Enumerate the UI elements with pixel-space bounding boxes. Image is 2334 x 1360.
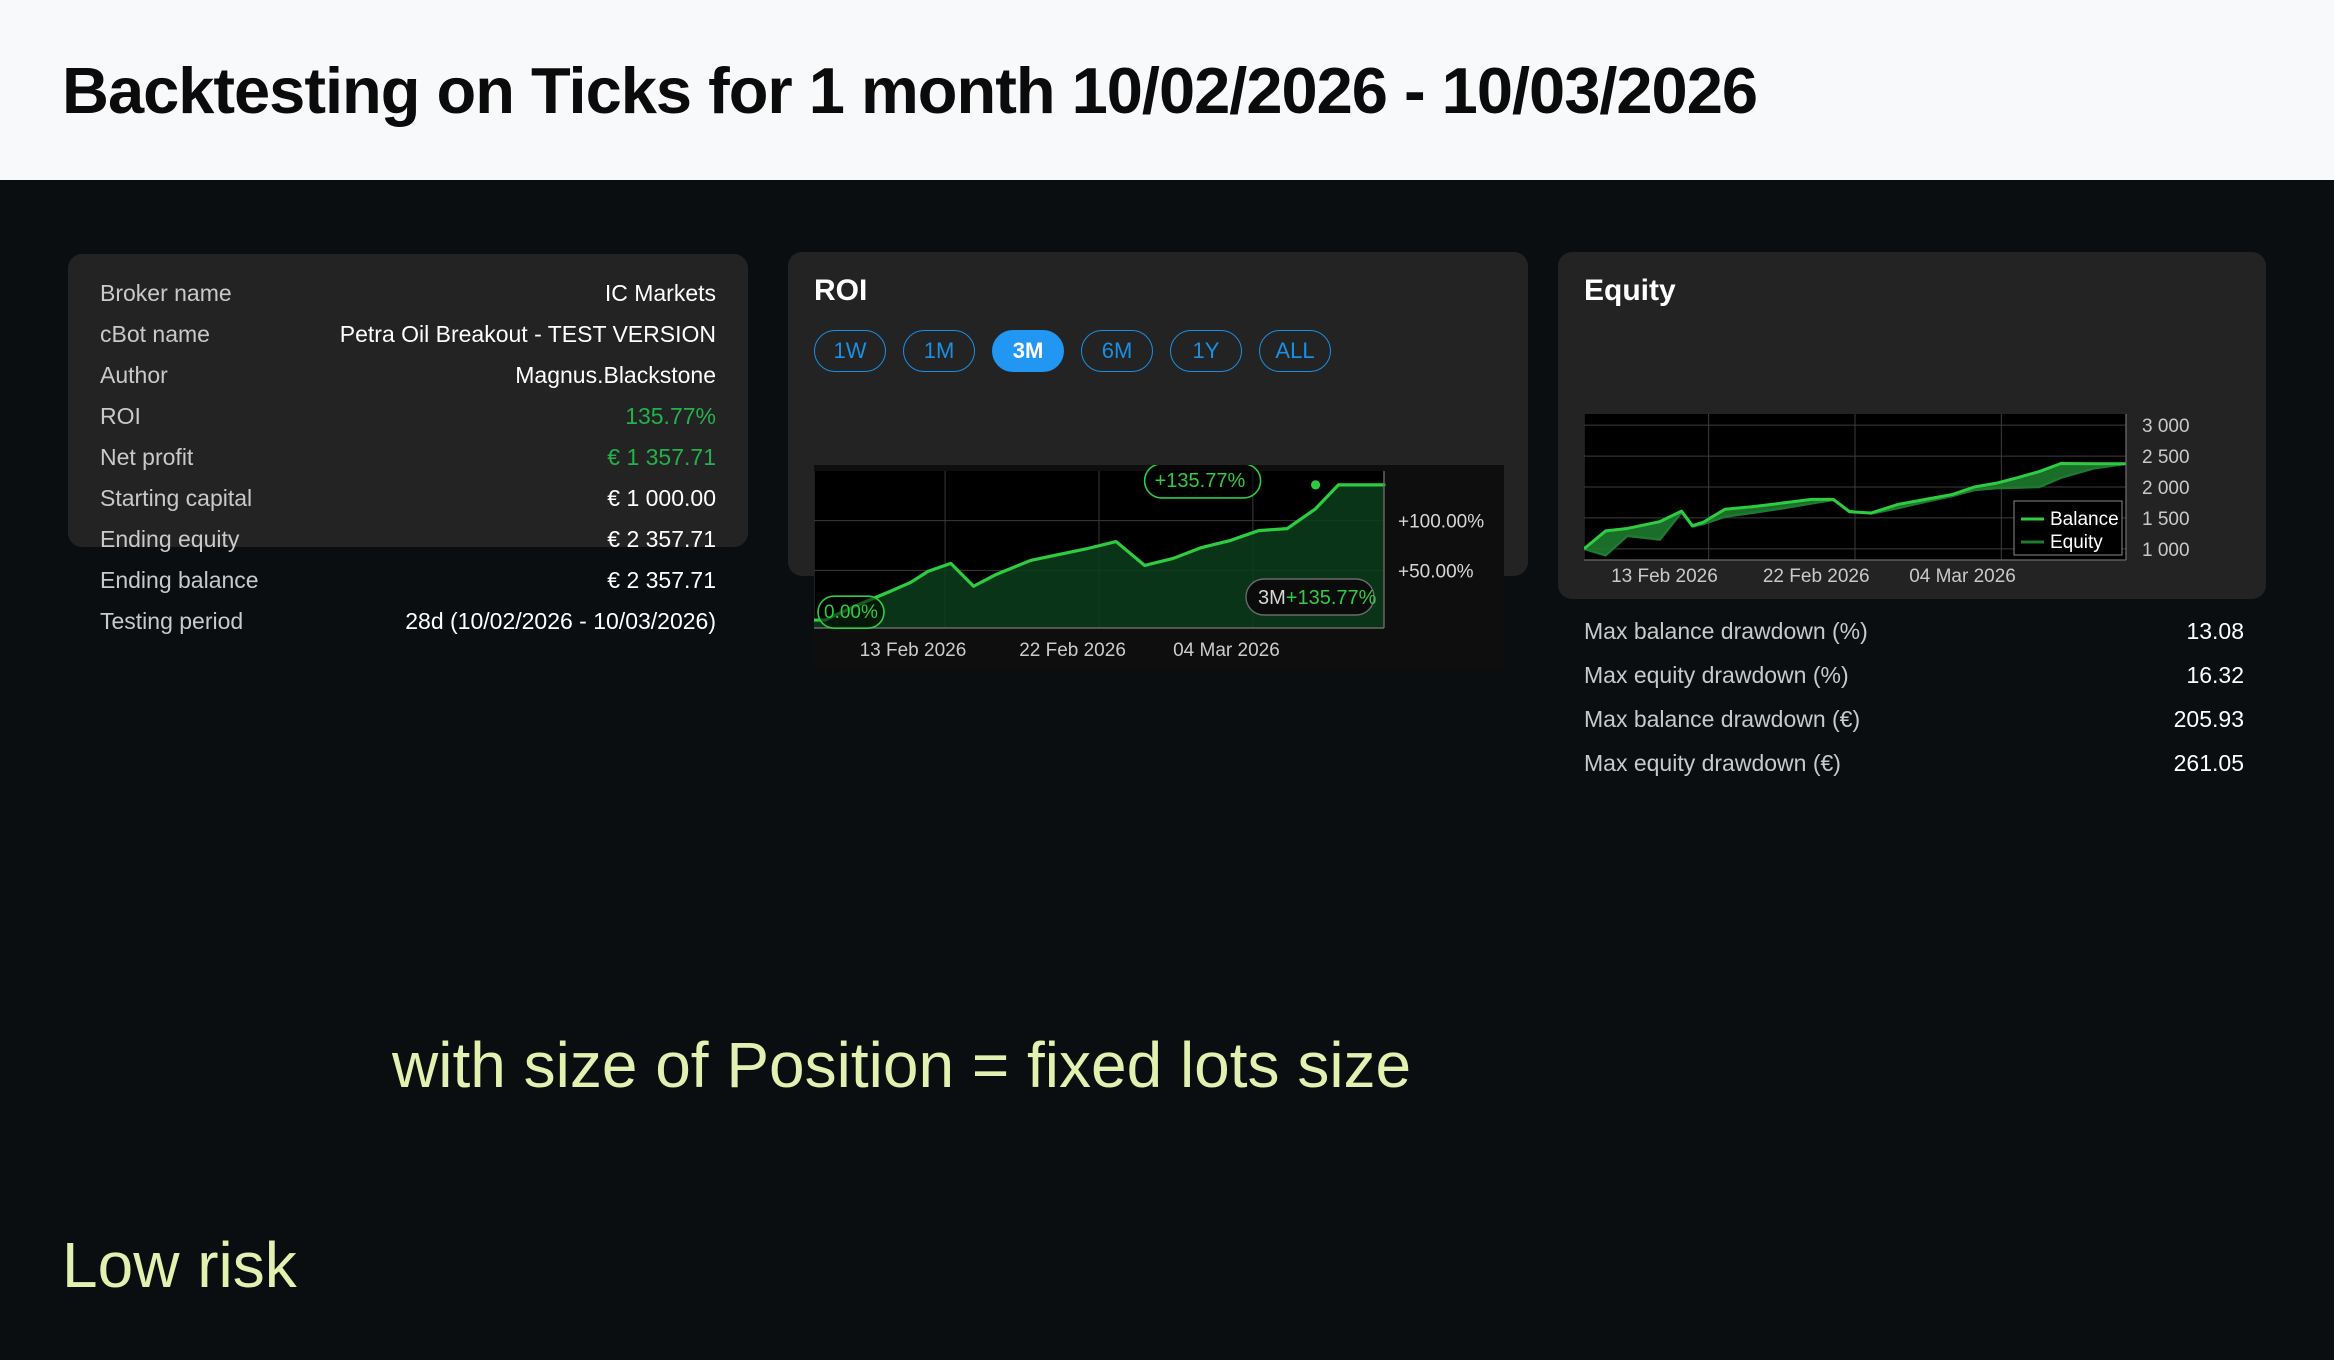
info-row-value: € 1 357.71: [607, 444, 716, 471]
info-row-value: € 1 000.00: [607, 485, 716, 512]
info-row-label: Ending equity: [100, 526, 239, 553]
drawdown-stats-list: Max balance drawdown (%)13.08Max equity …: [1584, 618, 2244, 794]
svg-text:13 Feb 2026: 13 Feb 2026: [1611, 566, 1718, 587]
roi-card-title: ROI: [814, 274, 1502, 308]
info-row-label: Net profit: [100, 444, 193, 471]
info-row-value: IC Markets: [605, 280, 716, 307]
svg-text:3M+135.77%: 3M+135.77%: [1258, 587, 1377, 609]
info-row: Testing period28d (10/02/2026 - 10/03/20…: [100, 608, 716, 649]
drawdown-stat-value: 16.32: [2186, 662, 2244, 689]
svg-text:Balance: Balance: [2050, 509, 2119, 530]
info-row: ROI135.77%: [100, 403, 716, 444]
svg-text:Equity: Equity: [2050, 532, 2103, 553]
svg-text:04 Mar 2026: 04 Mar 2026: [1173, 640, 1280, 661]
info-row-value: 135.77%: [625, 403, 716, 430]
svg-text:13 Feb 2026: 13 Feb 2026: [860, 640, 967, 661]
drawdown-stat-label: Max equity drawdown (%): [1584, 662, 1849, 689]
roi-range-button-3m[interactable]: 3M: [992, 330, 1064, 372]
info-row: Starting capital€ 1 000.00: [100, 485, 716, 526]
page-header: Backtesting on Ticks for 1 month 10/02/2…: [0, 0, 2334, 180]
svg-text:1 000: 1 000: [2142, 540, 2190, 561]
info-row: Broker nameIC Markets: [100, 280, 716, 321]
svg-text:2 000: 2 000: [2142, 478, 2190, 499]
info-row-label: Starting capital: [100, 485, 252, 512]
roi-range-button-1w[interactable]: 1W: [814, 330, 886, 372]
svg-text:22 Feb 2026: 22 Feb 2026: [1763, 566, 1870, 587]
cards-row: Broker nameIC MarketscBot namePetra Oil …: [0, 180, 2334, 900]
drawdown-stat-label: Max equity drawdown (€): [1584, 750, 1841, 777]
info-row-list: Broker nameIC MarketscBot namePetra Oil …: [100, 280, 716, 649]
roi-range-button-6m[interactable]: 6M: [1081, 330, 1153, 372]
drawdown-stat-label: Max balance drawdown (%): [1584, 618, 1868, 645]
info-row-value: Petra Oil Breakout - TEST VERSION: [340, 321, 716, 348]
info-row-value: Magnus.Blackstone: [515, 362, 716, 389]
svg-text:+50.00%: +50.00%: [1398, 561, 1474, 582]
drawdown-stat-value: 13.08: [2186, 618, 2244, 645]
drawdown-stat-value: 261.05: [2174, 750, 2244, 777]
drawdown-stat-row: Max equity drawdown (%)16.32: [1584, 662, 2244, 706]
page-title: Backtesting on Ticks for 1 month 10/02/2…: [62, 53, 1757, 128]
roi-range-button-1y[interactable]: 1Y: [1170, 330, 1242, 372]
caption-risk-level: Low risk: [62, 1228, 297, 1302]
svg-text:2 500: 2 500: [2142, 447, 2190, 468]
info-row-label: Ending balance: [100, 567, 259, 594]
backtest-info-card: Broker nameIC MarketscBot namePetra Oil …: [68, 254, 748, 547]
roi-range-button-group: 1W1M3M6M1YALL: [814, 330, 1502, 372]
svg-text:22 Feb 2026: 22 Feb 2026: [1019, 640, 1126, 661]
info-row: AuthorMagnus.Blackstone: [100, 362, 716, 403]
roi-range-button-all[interactable]: ALL: [1259, 330, 1331, 372]
info-row-value: 28d (10/02/2026 - 10/03/2026): [405, 608, 716, 635]
svg-text:+100.00%: +100.00%: [1398, 512, 1484, 533]
info-row: Ending balance€ 2 357.71: [100, 567, 716, 608]
info-row: Ending equity€ 2 357.71: [100, 526, 716, 567]
drawdown-stat-value: 205.93: [2174, 706, 2244, 733]
svg-text:+135.77%: +135.77%: [1155, 470, 1246, 492]
equity-card-title: Equity: [1584, 274, 2240, 308]
info-row-label: ROI: [100, 403, 141, 430]
svg-text:0.00%: 0.00%: [824, 602, 878, 623]
svg-text:04 Mar 2026: 04 Mar 2026: [1909, 566, 2016, 587]
info-row: Net profit€ 1 357.71: [100, 444, 716, 485]
drawdown-stat-row: Max balance drawdown (€)205.93: [1584, 706, 2244, 750]
svg-text:1 500: 1 500: [2142, 509, 2190, 530]
info-row-label: Broker name: [100, 280, 232, 307]
caption-position-size: with size of Position = fixed lots size: [392, 1028, 1411, 1102]
drawdown-stat-row: Max equity drawdown (€)261.05: [1584, 750, 2244, 794]
info-row-label: Author: [100, 362, 168, 389]
info-row-value: € 2 357.71: [607, 567, 716, 594]
svg-text:3 000: 3 000: [2142, 416, 2190, 437]
info-row-label: cBot name: [100, 321, 210, 348]
roi-chart[interactable]: +50.00%+100.00%13 Feb 202622 Feb 202604 …: [814, 465, 1504, 670]
info-row-value: € 2 357.71: [607, 526, 716, 553]
drawdown-stat-row: Max balance drawdown (%)13.08: [1584, 618, 2244, 662]
roi-range-button-1m[interactable]: 1M: [903, 330, 975, 372]
equity-chart[interactable]: 1 0001 5002 0002 5003 00013 Feb 202622 F…: [1584, 410, 2244, 590]
info-row-label: Testing period: [100, 608, 243, 635]
info-row: cBot namePetra Oil Breakout - TEST VERSI…: [100, 321, 716, 362]
drawdown-stat-label: Max balance drawdown (€): [1584, 706, 1860, 733]
